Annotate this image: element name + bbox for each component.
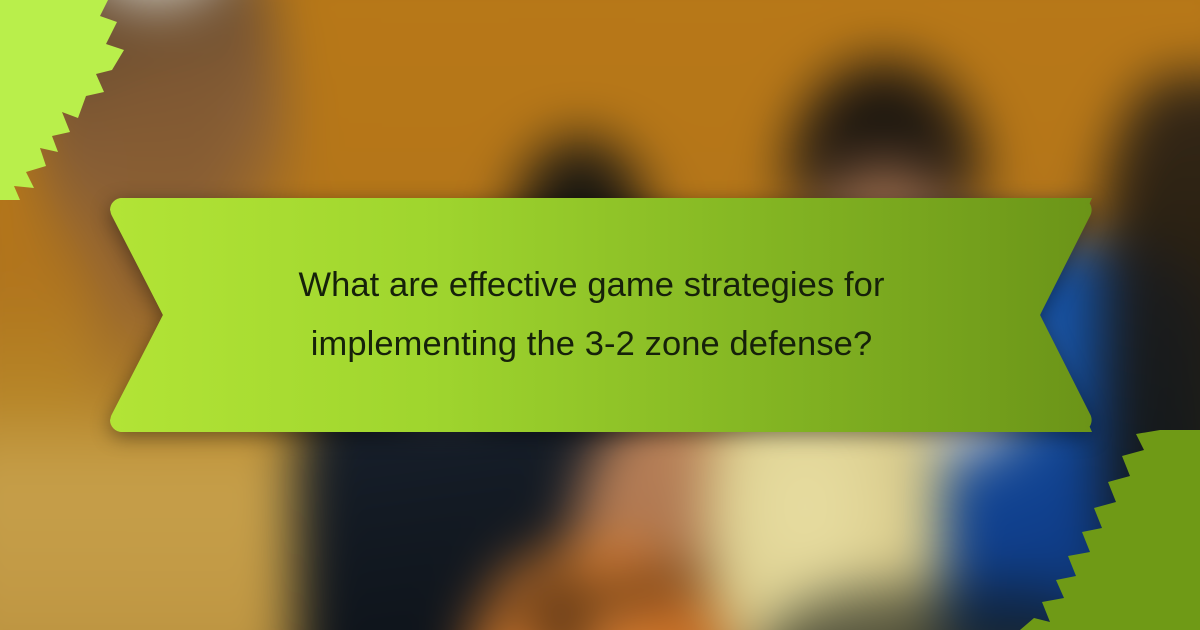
background-figure-far-right (1102, 75, 1200, 630)
question-card: What are effective game strategies for i… (0, 0, 1200, 630)
question-line-1: What are effective game strategies for (298, 256, 884, 315)
question-line-2: implementing the 3-2 zone defense? (311, 315, 873, 374)
question-text-block: What are effective game strategies for i… (163, 198, 1040, 432)
